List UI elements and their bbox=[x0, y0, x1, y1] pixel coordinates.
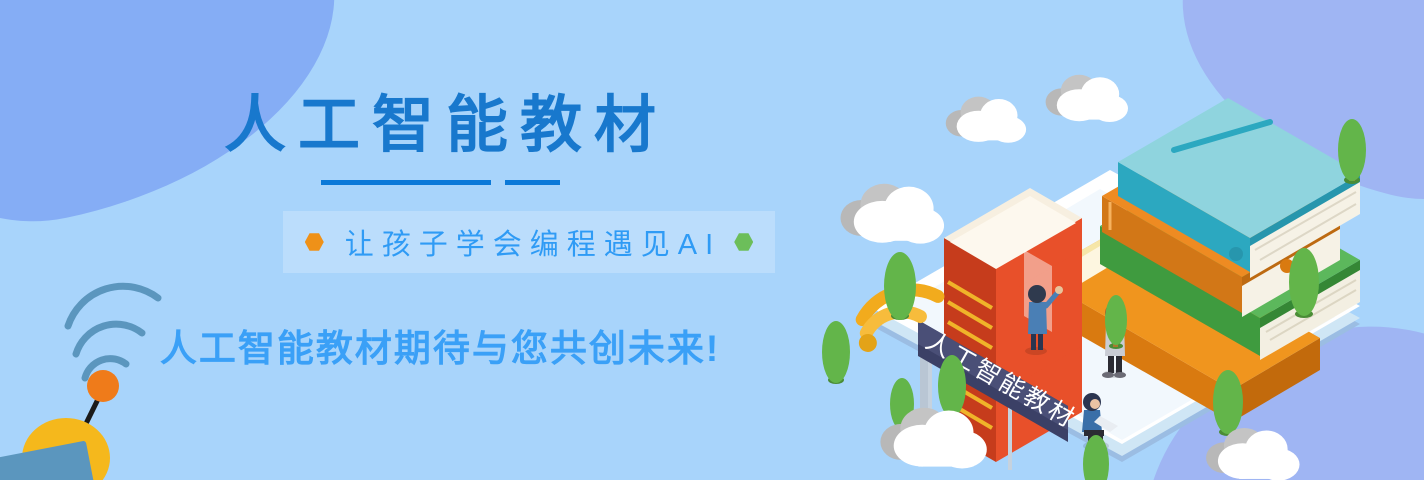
hexagon-bullet-left-icon bbox=[305, 233, 324, 252]
hexagon-bullet-right-icon bbox=[734, 233, 753, 252]
cloud-upper-mid bbox=[946, 97, 1026, 143]
cloud-front-right bbox=[1206, 428, 1300, 480]
cloud-upper-right bbox=[1046, 75, 1128, 122]
page-title: 人工智能教材 bbox=[0, 95, 880, 157]
title-divider bbox=[0, 180, 880, 185]
subtitle-box: 让孩子学会编程遇见AI bbox=[283, 211, 775, 273]
headline-group: 人工智能教材 让孩子学会编程遇见AI 人工智能教材期待与您共创未来! bbox=[0, 0, 880, 480]
cloud-upper-left bbox=[841, 184, 945, 244]
isometric-books-illustration: 人工智能教材 bbox=[800, 70, 1424, 480]
tree bbox=[822, 321, 850, 384]
ai-textbook-banner: 人工智能教材 让孩子学会编程遇见AI 人工智能教材期待与您共创未来! bbox=[0, 0, 1424, 480]
tree bbox=[884, 252, 916, 320]
subtitle-text: 让孩子学会编程遇见AI bbox=[337, 221, 721, 263]
tree bbox=[1213, 370, 1243, 436]
tagline-text: 人工智能教材期待与您共创未来! bbox=[0, 318, 880, 372]
divider-bar-long bbox=[321, 180, 491, 185]
divider-bar-short bbox=[505, 180, 560, 185]
